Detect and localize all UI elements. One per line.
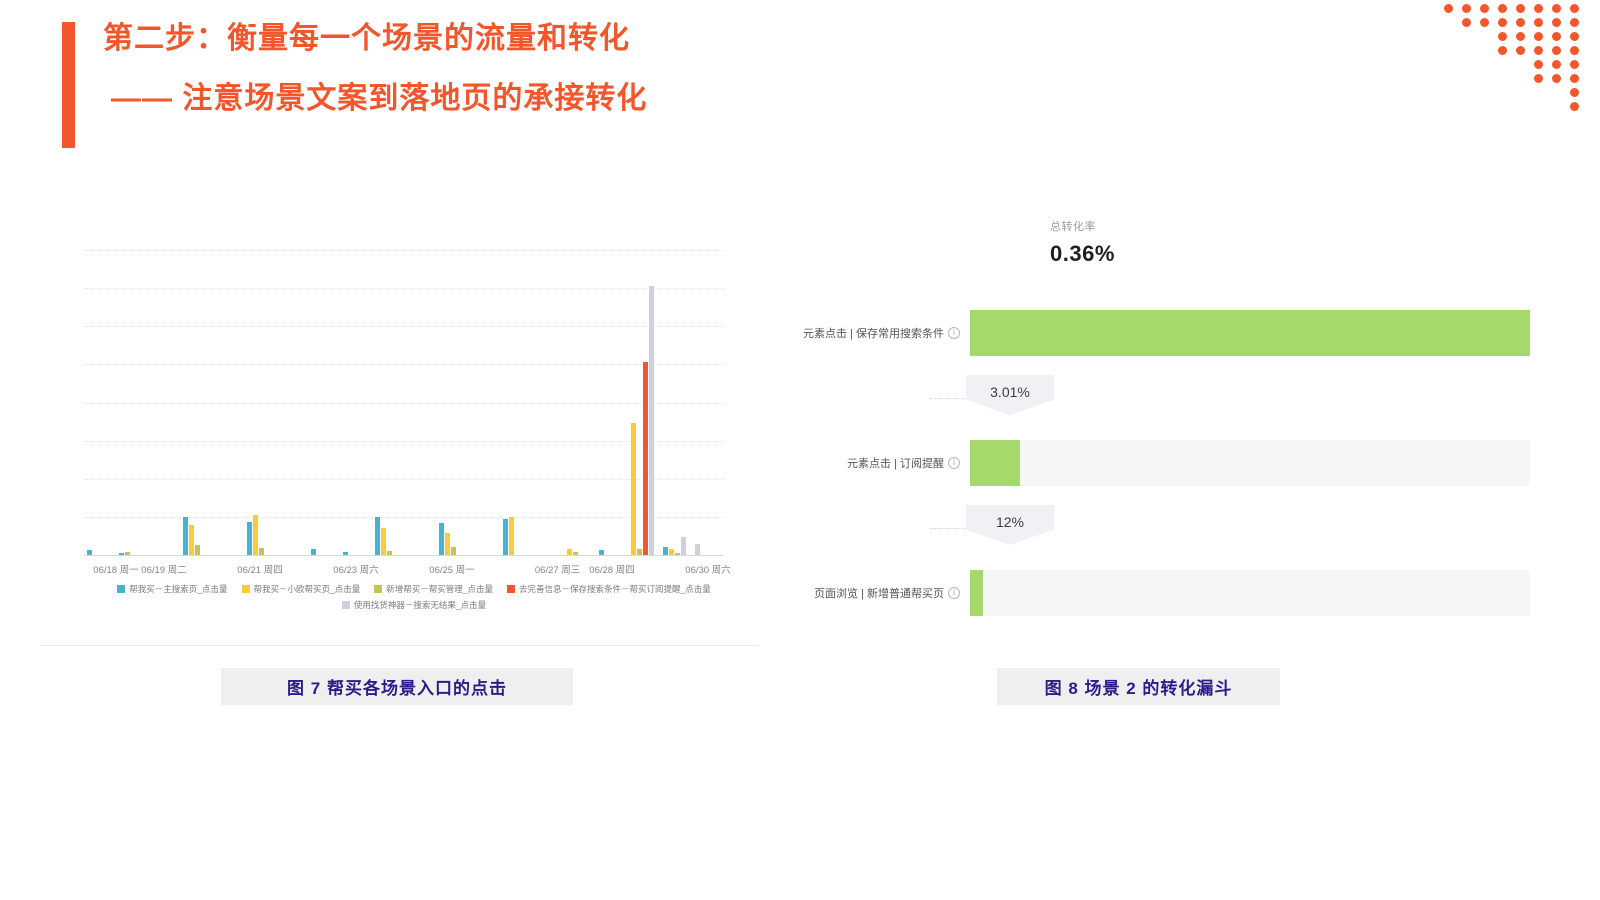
decorative-dot: [1570, 88, 1579, 97]
chart-gridline: [84, 288, 724, 289]
legend-label: 新增帮买－帮买管理_点击量: [386, 583, 493, 595]
slide-title-block: 第二步：衡量每一个场景的流量和转化 —— 注意场景文案到落地页的承接转化: [62, 22, 647, 148]
legend-swatch-icon: [242, 585, 250, 593]
bar: [681, 537, 686, 555]
bar: [695, 544, 700, 555]
funnel-badge-connector: [930, 528, 966, 529]
funnel-summary-value: 0.36%: [1050, 241, 1115, 267]
decorative-dot: [1552, 60, 1561, 69]
decorative-dot: [1534, 32, 1543, 41]
decorative-dot: [1498, 32, 1507, 41]
bar: [445, 533, 450, 555]
chart-gridline: [84, 403, 724, 404]
legend-label: 帮我买－小欧帮买页_点击量: [254, 583, 361, 595]
funnel-bar-fill: [970, 440, 1020, 486]
decorative-dot: [1534, 46, 1543, 55]
bar-chart-legend: 帮我买－主搜索页_点击量帮我买－小欧帮买页_点击量新增帮买－帮买管理_点击量去完…: [84, 583, 744, 611]
x-axis-tick-label: 06/30 周六: [685, 562, 730, 576]
funnel-step[interactable]: 元素点击 | 保存常用搜索条件i: [770, 310, 1530, 356]
bar: [183, 517, 188, 555]
decorative-dot: [1534, 74, 1543, 83]
funnel-bar-track: [970, 310, 1530, 356]
decorative-dot: [1570, 46, 1579, 55]
funnel-summary-label: 总转化率: [1050, 218, 1115, 234]
decorative-dot: [1516, 32, 1525, 41]
decorative-dot: [1570, 4, 1579, 13]
slide-title-line-1: 第二步：衡量每一个场景的流量和转化: [103, 24, 647, 54]
decorative-dot: [1498, 46, 1507, 55]
decorative-dot: [1498, 18, 1507, 27]
x-axis-tick-label: 06/28 周四: [589, 562, 634, 576]
decorative-dot: [1570, 32, 1579, 41]
figure-8-funnel-chart: 总转化率 0.36% 元素点击 | 保存常用搜索条件i元素点击 | 订阅提醒i页…: [770, 200, 1530, 650]
bar: [649, 286, 654, 555]
funnel-bar-fill: [970, 310, 1530, 356]
decorative-dot: [1444, 4, 1453, 13]
funnel-step-label: 元素点击 | 订阅提醒i: [770, 455, 970, 471]
bar-group: [631, 286, 654, 555]
funnel-bar-track: [970, 570, 1530, 616]
chart-gridline: [84, 479, 724, 480]
figure-divider-rule: [40, 645, 758, 646]
bar-group: [663, 537, 686, 555]
x-axis-tick-label: 06/23 周六: [333, 562, 378, 576]
figure-8-caption: 图 8 场景 2 的转化漏斗: [997, 668, 1280, 705]
bar-group: [503, 517, 514, 555]
bar: [663, 547, 668, 555]
legend-swatch-icon: [342, 601, 350, 609]
decorative-dot: [1570, 60, 1579, 69]
decorative-dot: [1480, 4, 1489, 13]
funnel-step-label-text: 元素点击 | 保存常用搜索条件: [803, 325, 944, 341]
legend-item[interactable]: 帮我买－主搜索页_点击量: [117, 583, 227, 595]
x-axis-tick-label: 06/25 周一: [429, 562, 474, 576]
bar-chart-x-tick-labels: 06/18 周一06/19 周二06/21 周四06/23 周六06/25 周一…: [84, 562, 724, 578]
funnel-conversion-badge: 12%: [966, 505, 1054, 545]
funnel-step[interactable]: 页面浏览 | 新增普通帮买页i: [770, 570, 1530, 616]
x-axis-tick-label: 06/18 周一: [93, 562, 138, 576]
info-icon[interactable]: i: [948, 457, 960, 469]
legend-swatch-icon: [374, 585, 382, 593]
decorative-dot-grid: [1444, 4, 1594, 119]
x-axis-tick-label: 06/19 周二: [141, 562, 186, 576]
legend-label: 帮我买－主搜索页_点击量: [129, 583, 227, 595]
decorative-dot: [1462, 18, 1471, 27]
funnel-step-label: 元素点击 | 保存常用搜索条件i: [770, 325, 970, 341]
bar-chart-plot-area: [84, 250, 724, 555]
funnel-badge-connector: [930, 398, 966, 399]
funnel-step-label-text: 元素点击 | 订阅提醒: [847, 455, 944, 471]
bar: [643, 362, 648, 555]
x-axis-tick-label: 06/27 周三: [535, 562, 580, 576]
decorative-dot: [1480, 18, 1489, 27]
bar: [259, 548, 264, 555]
decorative-dot: [1570, 74, 1579, 83]
funnel-bar-track: [970, 440, 1530, 486]
x-axis-tick-label: 06/21 周四: [237, 562, 282, 576]
chart-gridline: [84, 517, 724, 518]
decorative-dot: [1534, 60, 1543, 69]
decorative-dot: [1534, 4, 1543, 13]
bar: [189, 525, 194, 556]
bar: [439, 523, 444, 555]
bar: [509, 517, 514, 555]
figure-7-caption: 图 7 帮买各场景入口的点击: [221, 668, 573, 705]
title-text-group: 第二步：衡量每一个场景的流量和转化 —— 注意场景文案到落地页的承接转化: [103, 22, 647, 148]
bar-group: [375, 517, 392, 555]
chart-gridline: [84, 250, 724, 251]
funnel-bar-fill: [970, 570, 983, 616]
info-icon[interactable]: i: [948, 327, 960, 339]
decorative-dot: [1552, 4, 1561, 13]
title-accent-bar: [62, 22, 75, 148]
bar: [247, 522, 252, 555]
funnel-step[interactable]: 元素点击 | 订阅提醒i: [770, 440, 1530, 486]
decorative-dot: [1516, 46, 1525, 55]
decorative-dot: [1462, 4, 1471, 13]
figure-7-bar-chart: 06/18 周一06/19 周二06/21 周四06/23 周六06/25 周一…: [40, 185, 758, 650]
info-icon[interactable]: i: [948, 587, 960, 599]
funnel-step-label-text: 页面浏览 | 新增普通帮买页: [814, 585, 944, 601]
legend-label: 使用找货神器－搜索无结果_点击量: [354, 599, 486, 611]
legend-swatch-icon: [507, 585, 515, 593]
decorative-dot: [1552, 46, 1561, 55]
bar: [451, 547, 456, 555]
bar-group: [183, 517, 200, 555]
decorative-dot: [1552, 18, 1561, 27]
legend-item[interactable]: 新增帮买－帮买管理_点击量: [374, 583, 493, 595]
bar: [381, 528, 386, 555]
bar-group: [695, 544, 700, 555]
legend-label: 去完善信息－保存搜索条件－帮买订阅提醒_点击量: [519, 583, 711, 595]
decorative-dot: [1570, 18, 1579, 27]
legend-swatch-icon: [117, 585, 125, 593]
bar-chart-x-axis: [84, 555, 724, 556]
legend-item[interactable]: 帮我买－小欧帮买页_点击量: [242, 583, 361, 595]
bar: [195, 545, 200, 555]
bar-group: [247, 515, 264, 555]
bar: [253, 515, 258, 555]
legend-item[interactable]: 去完善信息－保存搜索条件－帮买订阅提醒_点击量: [507, 583, 711, 595]
bar-group: [439, 523, 456, 555]
decorative-dot: [1570, 102, 1579, 111]
legend-item[interactable]: 使用找货神器－搜索无结果_点击量: [342, 599, 486, 611]
bar: [631, 423, 636, 555]
chart-gridline: [84, 326, 724, 327]
decorative-dot: [1552, 74, 1561, 83]
slide-title-line-2: —— 注意场景文案到落地页的承接转化: [103, 84, 647, 114]
funnel-summary: 总转化率 0.36%: [1050, 218, 1115, 267]
funnel-conversion-badge: 3.01%: [966, 375, 1054, 415]
chart-gridline: [84, 364, 724, 365]
decorative-dot: [1534, 18, 1543, 27]
chart-gridline: [84, 441, 724, 442]
decorative-dot: [1552, 32, 1561, 41]
decorative-dot: [1498, 4, 1507, 13]
bar: [503, 519, 508, 555]
bar: [375, 517, 380, 555]
decorative-dot: [1516, 18, 1525, 27]
funnel-step-label: 页面浏览 | 新增普通帮买页i: [770, 585, 970, 601]
decorative-dot: [1516, 4, 1525, 13]
